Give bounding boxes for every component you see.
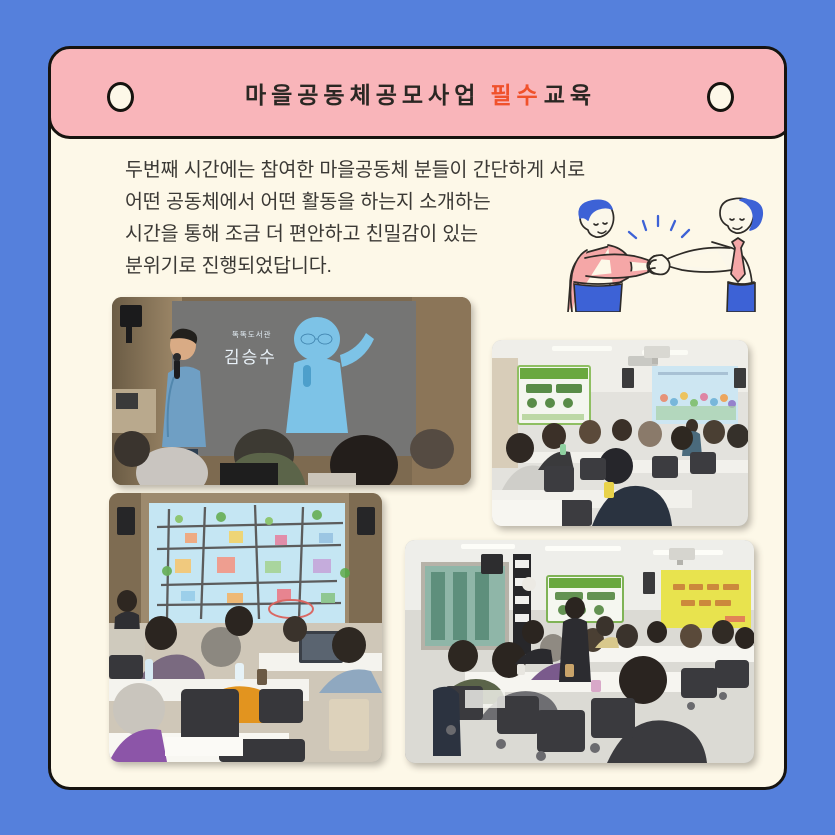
photo-map-presentation	[109, 493, 382, 762]
binder-hole-left-icon	[107, 82, 134, 112]
binder-hole-right-icon	[707, 82, 734, 112]
screen-caption-org: 똑똑도서관	[232, 329, 272, 339]
body-line-3: 시간을 통해 조금 더 편안하고 친밀감이 있는	[125, 218, 595, 250]
body-line-4: 분위기로 진행되었답니다.	[125, 250, 595, 282]
poster-card: 마을공동체공모사업 필수 교육 두번째 시간에는 참여한 마을공동체 분들이 간…	[48, 46, 787, 790]
title-accent: 필수	[490, 76, 542, 110]
body-line-1: 두번째 시간에는 참여한 마을공동체 분들이 간단하게 서로	[125, 154, 595, 186]
title-tail: 교육	[544, 76, 596, 110]
poster-header: 마을공동체공모사업 필수 교육	[48, 46, 787, 139]
body-line-2: 어떤 공동체에서 어떤 활동을 하는지 소개하는	[125, 186, 595, 218]
photo-classroom-green-banner	[492, 340, 748, 526]
sparkle-icon	[629, 216, 689, 238]
title-main: 마을공동체공모사업	[245, 76, 480, 110]
photo-lecture-speaker: 똑똑도서관 김승수	[112, 297, 471, 485]
screen-caption-name: 김승수	[224, 348, 277, 367]
photo-group-discussion	[405, 540, 754, 763]
body-paragraph: 두번째 시간에는 참여한 마을공동체 분들이 간단하게 서로 어떤 공동체에서 …	[125, 154, 595, 282]
page-title: 마을공동체공모사업 필수 교육	[245, 76, 596, 110]
handshake-illustration	[550, 190, 772, 312]
